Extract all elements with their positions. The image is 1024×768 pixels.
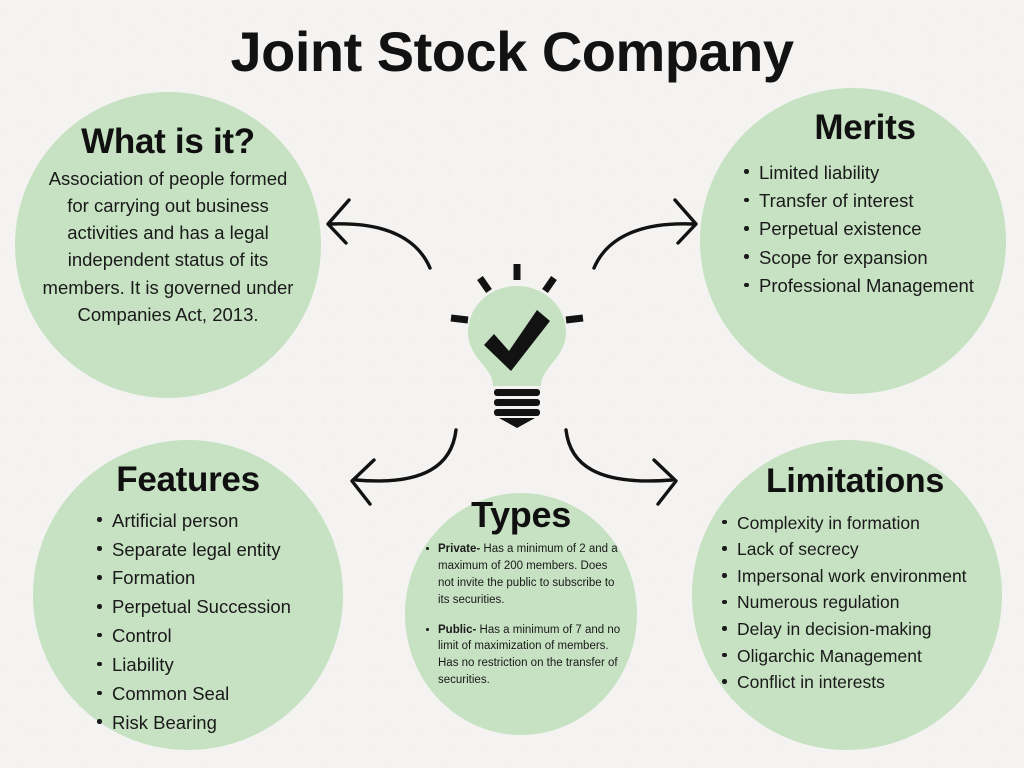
bubble-features-heading: Features — [47, 462, 329, 499]
bubble-features-list: Artificial personSeparate legal entityFo… — [95, 507, 329, 738]
bubble-what-is-it-heading: What is it? — [37, 124, 299, 161]
page-title: Joint Stock Company — [0, 24, 1024, 80]
features-item: Formation — [95, 564, 329, 593]
limitations-item: Impersonal work environment — [720, 563, 990, 590]
features-item: Risk Bearing — [95, 709, 329, 738]
arrow-curved-down-right-icon — [548, 424, 708, 534]
bubble-merits: Merits Limited liabilityTransfer of inte… — [700, 88, 1006, 394]
features-item: Separate legal entity — [95, 536, 329, 565]
bubble-merits-list: Limited liabilityTransfer of interestPer… — [742, 159, 988, 300]
bubble-limitations-heading: Limitations — [720, 464, 990, 500]
bubble-limitations-list: Complexity in formationLack of secrecyIm… — [720, 510, 990, 696]
arrow-curved-down-left-icon — [330, 424, 490, 534]
limitations-item: Lack of secrecy — [720, 536, 990, 563]
features-item: Liability — [95, 651, 329, 680]
limitations-item: Delay in decision-making — [720, 616, 990, 643]
merits-item: Transfer of interest — [742, 187, 988, 215]
infographic-canvas: Joint Stock Company What is it? Associat… — [0, 0, 1024, 768]
lightbulb-check-icon — [437, 258, 597, 428]
features-item: Artificial person — [95, 507, 329, 536]
features-item: Common Seal — [95, 680, 329, 709]
bubble-what-is-it: What is it? Association of people formed… — [15, 92, 321, 398]
features-item: Control — [95, 622, 329, 651]
limitations-item: Numerous regulation — [720, 589, 990, 616]
bubble-types-list: Private- Has a minimum of 2 and a maximu… — [425, 541, 623, 689]
bubble-merits-heading: Merits — [742, 110, 988, 147]
lightbulb-base — [494, 389, 540, 428]
bubble-features: Features Artificial personSeparate legal… — [33, 440, 343, 750]
limitations-item: Oligarchic Management — [720, 643, 990, 670]
limitations-item: Conflict in interests — [720, 669, 990, 696]
features-item: Perpetual Succession — [95, 593, 329, 622]
merits-item: Limited liability — [742, 159, 988, 187]
merits-item: Scope for expansion — [742, 244, 988, 272]
types-item: Public- Has a minimum of 7 and no limit … — [425, 622, 623, 690]
types-item: Private- Has a minimum of 2 and a maximu… — [425, 541, 623, 609]
bubble-what-is-it-paragraph: Association of people formed for carryin… — [37, 165, 299, 328]
bubble-limitations: Limitations Complexity in formationLack … — [692, 440, 1002, 750]
lightbulb-glass — [468, 286, 566, 386]
merits-item: Perpetual existence — [742, 215, 988, 243]
merits-item: Professional Management — [742, 272, 988, 300]
types-item-label: Private- — [438, 543, 480, 555]
types-item-label: Public- — [438, 624, 476, 636]
limitations-item: Complexity in formation — [720, 510, 990, 537]
